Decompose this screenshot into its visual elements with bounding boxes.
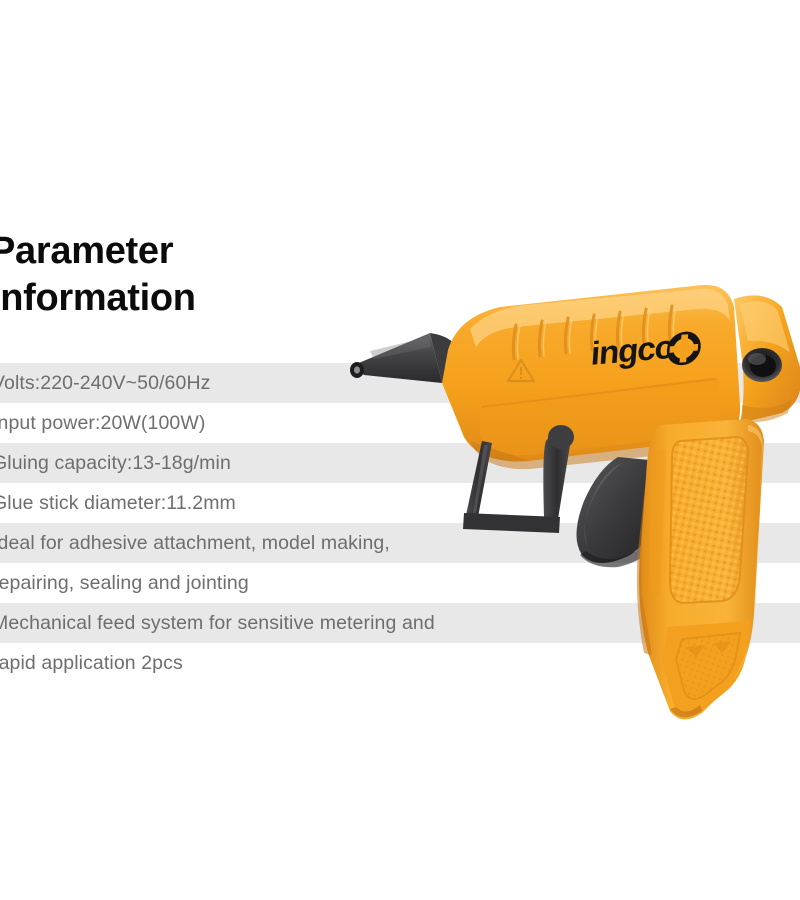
product-spec-image: Parameter Information Volts:220-240V~50/…	[0, 0, 800, 900]
spec-row-text: Gluing capacity:13-18g/min	[0, 452, 231, 475]
spec-row-text: repairing, sealing and jointing	[0, 572, 249, 595]
page-title-line2: Information	[0, 275, 410, 322]
ingco-logo-text: ingco	[590, 329, 675, 373]
glue-stick-feed-port-icon	[742, 348, 782, 382]
page-title-line1: Parameter	[0, 230, 173, 272]
page-title: Parameter Information	[0, 228, 410, 322]
spec-row-text: Glue stick diameter:11.2mm	[0, 492, 236, 515]
product-image-glue-gun: ingco	[330, 255, 800, 755]
rear-housing	[734, 295, 800, 423]
spec-row-text: rapid application 2pcs	[0, 652, 183, 675]
ingco-logo-o-mark	[669, 333, 699, 363]
spec-row-text: Volts:220-240V~50/60Hz	[0, 372, 210, 395]
spec-row-text: Input power:20W(100W)	[0, 412, 205, 435]
handle	[637, 419, 764, 720]
